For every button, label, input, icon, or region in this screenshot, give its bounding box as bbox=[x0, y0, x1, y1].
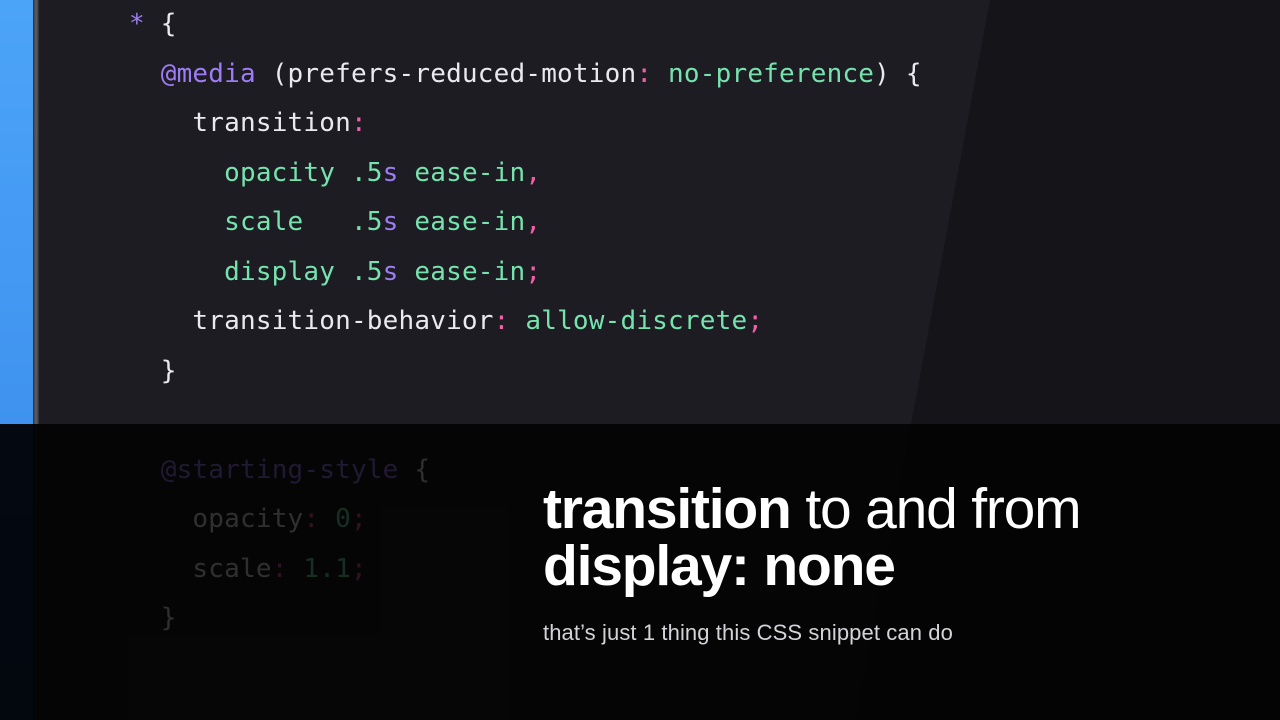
code-token-green: 1.1 bbox=[303, 554, 351, 584]
code-token-plain bbox=[288, 554, 304, 584]
slide-canvas: * { @media (prefers-reduced-motion: no-p… bbox=[0, 0, 1280, 720]
code-token-colon: : bbox=[272, 554, 288, 584]
code-token-green: ease-in bbox=[399, 158, 526, 188]
headline-line-2: display: none bbox=[543, 538, 1243, 595]
code-token-punct: } bbox=[161, 356, 177, 386]
accent-rail bbox=[0, 0, 33, 720]
code-token-unit: s bbox=[383, 158, 399, 188]
code-token-colon: : bbox=[494, 306, 510, 336]
code-token-green: display .5 bbox=[224, 257, 383, 287]
code-token-plain: (prefers-reduced-motion bbox=[256, 59, 636, 89]
code-line: display .5s ease-in; bbox=[39, 248, 1280, 298]
accent-rail-bottom bbox=[0, 424, 33, 720]
headline: transition to and from display: none bbox=[543, 481, 1243, 595]
code-token-green: ease-in bbox=[399, 257, 526, 287]
code-token-plain: scale bbox=[192, 554, 271, 584]
code-token-green: ease-in bbox=[399, 207, 526, 237]
code-token-comma: ; bbox=[747, 306, 763, 336]
code-token-plain: opacity bbox=[192, 504, 303, 534]
code-token-unit: s bbox=[383, 207, 399, 237]
code-line: * { bbox=[39, 0, 1280, 50]
code-token-atrule: @media bbox=[161, 59, 256, 89]
code-token-colon: : bbox=[636, 59, 652, 89]
code-token-green: 0 bbox=[335, 504, 351, 534]
code-line: transition-behavior: allow-discrete; bbox=[39, 297, 1280, 347]
code-token-plain: transition bbox=[192, 108, 351, 138]
code-token-plain bbox=[145, 9, 161, 39]
code-line bbox=[39, 396, 1280, 446]
code-token-comma: ; bbox=[525, 257, 541, 287]
headline-keyword: transition bbox=[543, 477, 791, 541]
code-token-plain bbox=[319, 504, 335, 534]
code-token-colon: : bbox=[351, 108, 367, 138]
rail-divider-dimmed bbox=[33, 424, 39, 720]
code-token-plain bbox=[510, 306, 526, 336]
headline-line-1: transition to and from bbox=[543, 481, 1243, 538]
code-token-comma: ; bbox=[351, 504, 367, 534]
accent-rail-top bbox=[0, 0, 33, 424]
code-line: @media (prefers-reduced-motion: no-prefe… bbox=[39, 50, 1280, 100]
code-token-plain: ) { bbox=[874, 59, 922, 89]
code-token-plain: { bbox=[399, 455, 431, 485]
headline-line-1-rest: to and from bbox=[791, 477, 1081, 541]
code-line: } bbox=[39, 347, 1280, 397]
code-token-green: scale .5 bbox=[224, 207, 383, 237]
subline: that’s just 1 thing this CSS snippet can… bbox=[543, 619, 1243, 647]
code-token-unit: s bbox=[383, 257, 399, 287]
code-token-comma: , bbox=[525, 158, 541, 188]
code-token-colon: : bbox=[303, 504, 319, 534]
code-line: transition: bbox=[39, 99, 1280, 149]
headline-declaration: display: none bbox=[543, 534, 895, 598]
code-token-plain bbox=[652, 59, 668, 89]
code-token-star: * bbox=[129, 9, 145, 39]
code-token-green: allow-discrete bbox=[525, 306, 747, 336]
code-token-green: opacity .5 bbox=[224, 158, 383, 188]
rail-divider bbox=[33, 0, 39, 720]
code-token-atrule: @starting-style bbox=[161, 455, 399, 485]
code-line: scale .5s ease-in, bbox=[39, 198, 1280, 248]
code-token-comma: , bbox=[525, 207, 541, 237]
code-token-comma: ; bbox=[351, 554, 367, 584]
code-line: opacity .5s ease-in, bbox=[39, 149, 1280, 199]
code-token-plain: transition-behavior bbox=[192, 306, 493, 336]
code-token-green: no-preference bbox=[668, 59, 874, 89]
caption-block: transition to and from display: none tha… bbox=[543, 481, 1243, 647]
code-token-punct: { bbox=[161, 9, 177, 39]
code-token-punct: } bbox=[161, 603, 177, 633]
